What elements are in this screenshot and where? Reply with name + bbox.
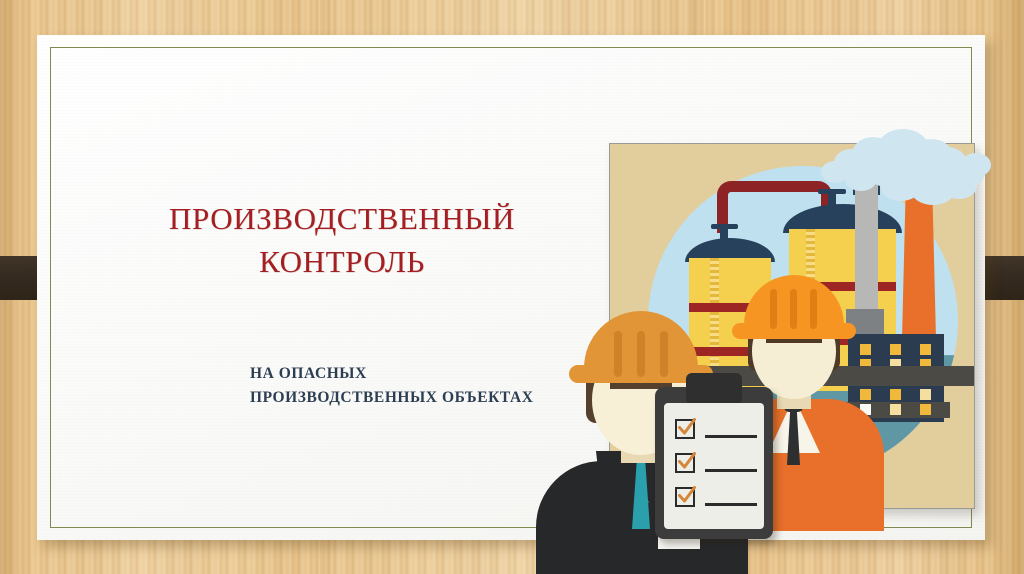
hardhat-rib	[810, 289, 817, 329]
checklist-item[interactable]	[675, 453, 757, 475]
tank-nozzle-cap	[818, 189, 846, 194]
hardhat	[584, 311, 698, 381]
hardhat-rib	[614, 331, 622, 377]
checklist-item[interactable]	[675, 487, 757, 509]
clipboard-clamp	[686, 373, 742, 405]
checklist-line	[705, 503, 757, 506]
hardhat-rib	[770, 289, 777, 329]
page-title: ПРОИЗВОДСТВЕННЫЙ КОНТРОЛЬ	[127, 198, 557, 284]
check-icon	[678, 452, 696, 472]
checklist-line	[705, 469, 757, 472]
hardhat-rib	[790, 289, 797, 329]
presentation-slide: ПРОИЗВОДСТВЕННЫЙ КОНТРОЛЬ НА ОПАСНЫХ ПРО…	[0, 0, 1024, 574]
page-subtitle: НА ОПАСНЫХ ПРОИЗВОДСТВЕННЫХ ОБЪЕКТАХ	[250, 362, 550, 409]
checklist-line	[705, 435, 757, 438]
hardhat-rib	[660, 331, 668, 377]
hardhat-rib	[637, 331, 645, 377]
clipboard-paper	[664, 403, 764, 529]
check-icon	[678, 486, 696, 506]
check-icon	[678, 418, 696, 438]
checklist-item[interactable]	[675, 419, 757, 441]
inspection-clipboard	[655, 387, 773, 539]
slide-card: ПРОИЗВОДСТВЕННЫЙ КОНТРОЛЬ НА ОПАСНЫХ ПРО…	[37, 35, 985, 540]
tank-nozzle-cap	[711, 224, 738, 229]
